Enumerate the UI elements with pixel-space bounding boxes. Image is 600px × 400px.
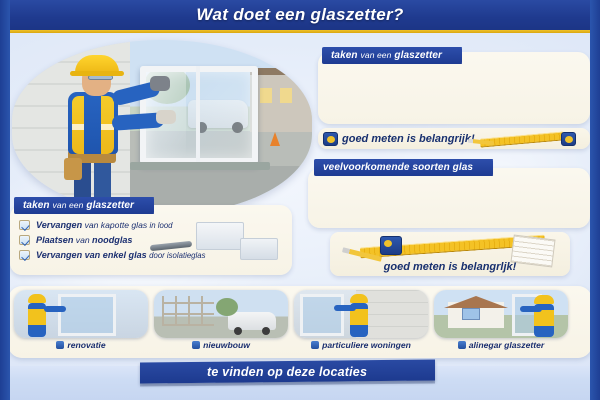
worker-glove-upper [150,76,170,91]
ribbon-glass-types-label: veelvoorkomende soorten glas [323,162,473,173]
worker-arm [520,306,542,312]
gallery-label-alinegar-glaszetter: alinegar glaszetter [469,340,544,350]
hero-window-mullion [196,66,200,164]
house-roof-icon [444,296,508,308]
new-build-icon [192,341,200,349]
checklist-item-label: Vervangen van enkel glas door isolatiegl… [36,250,206,260]
private-homes-icon [311,341,319,349]
renovation-icon [56,341,64,349]
glass-block-stack-2 [240,238,278,260]
gallery-image-nieuwbouw [154,290,288,338]
worker-vest [534,310,554,326]
worker-tool-pouch [64,158,82,180]
tape-case-icon-right [561,132,576,146]
measure-note-top: goed meten is belangrijk! [342,133,475,145]
header-gold-rule [0,30,600,33]
border-left [0,0,10,400]
tape-case-icon-center [380,236,402,255]
panel-glass-types [308,168,590,228]
van-wheel [234,327,242,335]
gallery-image-alinegar-glaszetter [434,290,568,338]
van-wheel-2 [262,327,270,335]
footer-banner-label: te vinden op deze locaties [207,365,367,379]
checklist-item[interactable]: Vervangen van kapotte glas in lood [19,220,206,230]
gallery-label-row: nieuwbouw [192,340,250,350]
window-frame-icon [300,294,344,336]
header-bar: Wat doet een glaszetter? [0,0,600,30]
checklist-item[interactable]: Plaatsen van noodglas [19,235,206,245]
gallery-label-row: alinegar glaszetter [458,340,544,350]
checklist-item-label: Plaatsen van noodglas [36,235,132,245]
ribbon-glass-types: veelvoorkomende soorten glas [314,159,493,176]
measure-strip-bottom: goed meten is belangrljk! [330,232,570,276]
hero-building-window-2 [280,88,292,103]
gallery-cell-nieuwbouw[interactable]: nieuwbouw [154,290,288,350]
check-icon [19,235,30,245]
worker-glove-lower [156,110,176,124]
gallery-row: renovatie nieuwbouw [14,290,568,350]
border-right [590,0,600,400]
check-icon [19,220,30,230]
gallery-label-nieuwbouw: nieuwbouw [203,340,250,350]
gallery-label-row: particuliere woningen [311,340,411,350]
footer-banner: te vinden op deze locaties [140,359,435,383]
ribbon-tasks-left-label: taken van een glaszetter [23,200,134,211]
hero-building-window [260,88,272,103]
poster-canvas: taken van een glaszetter isolatiglas kat… [0,0,600,400]
ribbon-tasks-top-right: taken van een glaszetter [322,47,462,64]
check-icon [19,250,30,260]
worker-vest [350,309,368,325]
gallery-label-particuliere-woningen: particuliere woningen [322,340,411,350]
checklist-item-label: Vervangen van kapotte glas in lood [36,220,173,230]
worker-hard-hat-brim [70,71,124,76]
ribbon-tasks-left: taken van een glaszetter [14,197,154,214]
worker-arm [44,306,66,312]
checklist-item[interactable]: Vervangen van enkel glas door isolatiegl… [19,250,206,260]
tasks-left-checklist: Vervangen van kapotte glas in lood Plaat… [19,220,206,265]
hero-cone [270,132,280,146]
hero-window-sill [130,162,270,170]
worker-helmet [350,294,368,303]
measure-strip-top: goed meten is belangrijk! [318,128,590,149]
worker-helmet [28,294,46,303]
worker-arm [334,305,356,311]
page-title: Wat doet een glaszetter? [196,5,403,25]
tree-icon [216,298,238,316]
window-frame-icon [58,294,116,336]
gallery-cell-renovatie[interactable]: renovatie [14,290,148,350]
gallery-image-particuliere-woningen [294,290,428,338]
gallery-image-renovatie [14,290,148,338]
tape-case-icon [323,132,338,146]
gallery-cell-alinegar-glaszetter[interactable]: alinegar glaszetter [434,290,568,350]
house-window-icon [462,308,480,320]
glazier-icon [458,341,466,349]
worker-vest [28,309,46,325]
measure-note-bottom: goed meten is belangrljk! [384,261,517,273]
gallery-label-row: renovatie [56,340,105,350]
gallery-cell-particuliere-woningen[interactable]: particuliere woningen [294,290,428,350]
notebook-icon [510,235,555,268]
worker-helmet [534,295,554,304]
gallery-label-renovatie: renovatie [67,340,105,350]
ribbon-tasks-top-right-label: taken van een glaszetter [331,50,442,61]
hero-illustration [12,40,312,215]
worker-vest-opening [84,96,101,154]
scaffolding-icon [162,296,214,326]
